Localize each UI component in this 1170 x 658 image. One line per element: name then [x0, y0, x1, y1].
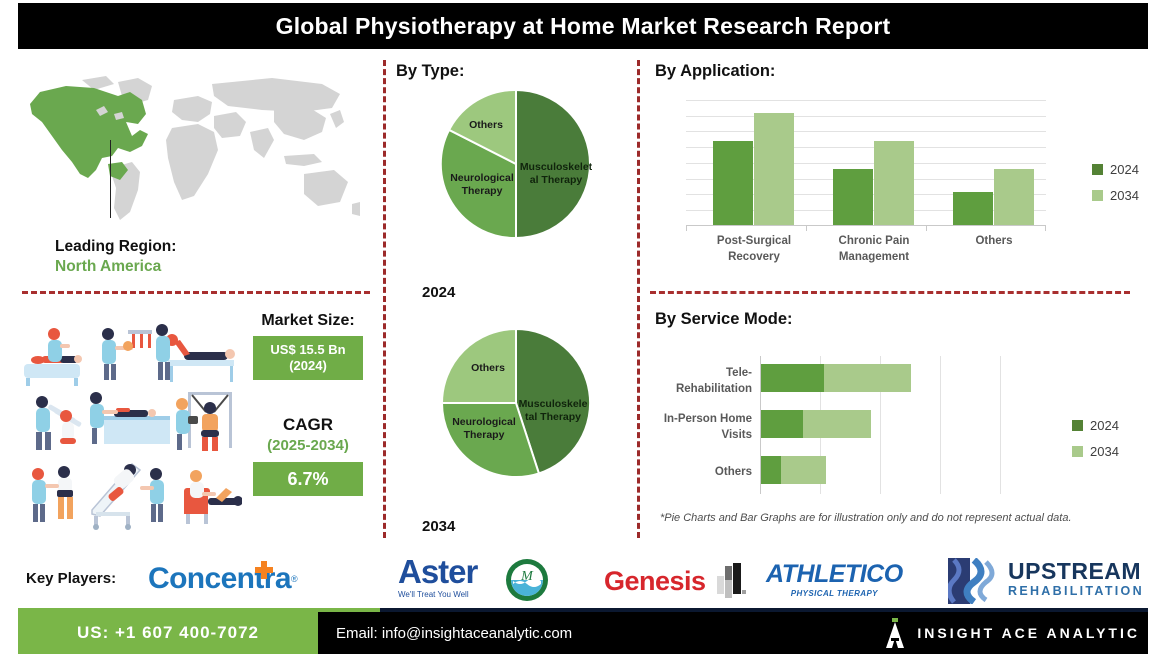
cagr-value-box: 6.7%	[253, 462, 363, 496]
legend-item-2034: 2034	[1092, 188, 1139, 203]
legend-item-2024: 2024	[1072, 418, 1119, 433]
pie-2024-year-label: 2024	[422, 284, 455, 301]
gridline	[686, 100, 1046, 101]
svg-text:Therapy: Therapy	[462, 185, 503, 197]
bar-2034-chronic-pain	[874, 141, 914, 225]
legend-label-2034: 2034	[1110, 188, 1139, 203]
hbar-segment-2024	[761, 456, 781, 484]
legend-item-2024: 2024	[1092, 162, 1139, 177]
footer-phone[interactable]: US: +1 607 400-7072	[18, 612, 318, 654]
leading-region-value: North America	[55, 258, 305, 276]
page-title: Global Physiotherapy at Home Market Rese…	[276, 13, 891, 40]
legend-label-2024: 2024	[1110, 162, 1139, 177]
svg-text:Musculoskelet: Musculoskelet	[520, 161, 593, 173]
physiotherapy-illustration-collage	[16, 312, 242, 532]
divider-vertical-left	[383, 60, 386, 538]
bar-2034-post-surgical	[754, 113, 794, 225]
svg-text:M: M	[520, 569, 534, 584]
hbar-segment-2034	[824, 364, 911, 392]
genesis-bars-icon	[716, 562, 750, 598]
legend-label-2024: 2024	[1090, 418, 1119, 433]
legend-swatch-2034	[1092, 190, 1103, 201]
gridline	[686, 116, 1046, 117]
service-mode-label-others: Others	[632, 465, 752, 481]
pie-chart-by-type-2034: Musculoskele tal Therapy Neurological Th…	[438, 325, 594, 481]
bar-2024-chronic-pain	[833, 169, 873, 225]
market-size-value: US$ 15.5 Bn	[270, 342, 345, 358]
pie-chart-by-type-2024: Musculoskelet al Therapy Neurological Th…	[438, 86, 594, 242]
bar-2034-others	[994, 169, 1034, 225]
logo-athletico-tagline: PHYSICAL THERAPY	[791, 589, 878, 598]
divider-horizontal-left	[22, 291, 370, 294]
category-label-post-surgical: Post-SurgicalRecovery	[694, 234, 814, 265]
svg-text:al Therapy: al Therapy	[530, 174, 583, 186]
insight-ace-logo-icon	[883, 618, 907, 648]
cagr-value: 6.7%	[287, 469, 328, 490]
service-mode-label-tele-rehabilitation: Tele-Rehabilitation	[632, 366, 752, 397]
bar-chart-by-service-mode	[760, 356, 1060, 494]
concentra-plus-icon	[253, 560, 275, 582]
market-size-label: Market Size:	[248, 312, 368, 330]
service-mode-label-in-person-home-visits: In-Person HomeVisits	[632, 412, 752, 443]
svg-text:tal Therapy: tal Therapy	[525, 411, 581, 423]
chart-footnote: *Pie Charts and Bar Graphs are for illus…	[660, 512, 1072, 524]
legend-swatch-2034	[1072, 446, 1083, 457]
category-label-others: Others	[934, 234, 1054, 250]
logo-athletico[interactable]: ATHLETICO PHYSICAL THERAPY	[766, 560, 903, 598]
svg-text:Musculoskele: Musculoskele	[519, 398, 588, 410]
svg-text:Neurological: Neurological	[450, 172, 514, 184]
x-axis-line	[686, 225, 1046, 226]
bar-chart-category-labels: Post-SurgicalRecovery Chronic PainManage…	[686, 234, 1046, 274]
hbar-segment-2034	[781, 456, 826, 484]
logo-concentra[interactable]: Concentra ®	[148, 562, 298, 596]
world-map	[22, 70, 362, 230]
legend-swatch-2024	[1072, 420, 1083, 431]
logo-genesis[interactable]: Genesis	[604, 566, 706, 597]
leading-region-block: Leading Region: North America	[55, 238, 305, 276]
key-players-label: Key Players:	[26, 570, 116, 587]
category-label-chronic-pain: Chronic PainManagement	[814, 234, 934, 265]
bar-2024-others	[953, 192, 993, 225]
logo-genesis-text: Genesis	[604, 566, 706, 597]
market-size-year: (2024)	[289, 358, 327, 374]
logo-upstream-tagline: REHABILITATION	[1008, 583, 1144, 599]
hbar-segment-2034	[803, 410, 871, 438]
logo-aster-tagline: We'll Treat You Well	[398, 590, 469, 599]
footer-bar: US: +1 607 400-7072 Email: info@insighta…	[18, 612, 1148, 654]
aster-seal-icon: M	[505, 558, 549, 602]
logo-athletico-text: ATHLETICO	[766, 560, 903, 589]
cagr-label: CAGR	[248, 415, 368, 435]
axis-tick	[686, 226, 687, 231]
page-title-bar: Global Physiotherapy at Home Market Rese…	[18, 3, 1148, 49]
svg-text:Neurological: Neurological	[452, 416, 516, 428]
legend-swatch-2024	[1092, 164, 1103, 175]
gridline	[1000, 356, 1001, 494]
gridline	[686, 131, 1046, 132]
svg-text:Others: Others	[469, 119, 503, 131]
footer-email[interactable]: Email: info@insightaceanalytic.com	[336, 612, 572, 654]
upstream-wave-icon	[948, 558, 1002, 604]
gridline	[940, 356, 941, 494]
divider-horizontal-right	[650, 291, 1130, 294]
logo-concentra-registered: ®	[291, 574, 298, 584]
section-heading-by-service-mode: By Service Mode:	[655, 310, 793, 329]
axis-tick	[926, 226, 927, 231]
pie-2034-year-label: 2034	[422, 518, 455, 535]
logo-aster-text: Aster	[398, 556, 477, 587]
svg-text:Therapy: Therapy	[464, 429, 505, 441]
map-leader-line	[110, 140, 111, 218]
market-size-value-box: US$ 15.5 Bn (2024)	[253, 336, 363, 380]
logo-upstream[interactable]: UPSTREAM REHABILITATION	[1008, 560, 1144, 599]
axis-tick	[806, 226, 807, 231]
infographic-root: Global Physiotherapy at Home Market Rese…	[0, 0, 1170, 658]
cagr-period: (2025-2034)	[248, 437, 368, 454]
leading-region-label: Leading Region:	[55, 238, 305, 256]
axis-tick	[1045, 226, 1046, 231]
legend-label-2034: 2034	[1090, 444, 1119, 459]
legend-by-service-mode: 2024 2034	[1072, 418, 1119, 470]
section-heading-by-application: By Application:	[655, 62, 775, 81]
footer-brand-name: INSIGHT ACE ANALYTIC	[917, 625, 1140, 641]
bar-chart-by-application	[686, 100, 1046, 226]
legend-item-2034: 2034	[1072, 444, 1119, 459]
logo-upstream-text: UPSTREAM	[1008, 560, 1141, 583]
hbar-segment-2024	[761, 364, 824, 392]
hbar-segment-2024	[761, 410, 803, 438]
bar-2024-post-surgical	[713, 141, 753, 225]
footer-brand: INSIGHT ACE ANALYTIC	[883, 612, 1140, 654]
svg-text:Others: Others	[471, 362, 505, 374]
section-heading-by-type: By Type:	[396, 62, 464, 81]
logo-aster[interactable]: Aster We'll Treat You Well	[398, 556, 477, 599]
legend-by-application: 2024 2034	[1092, 162, 1139, 214]
